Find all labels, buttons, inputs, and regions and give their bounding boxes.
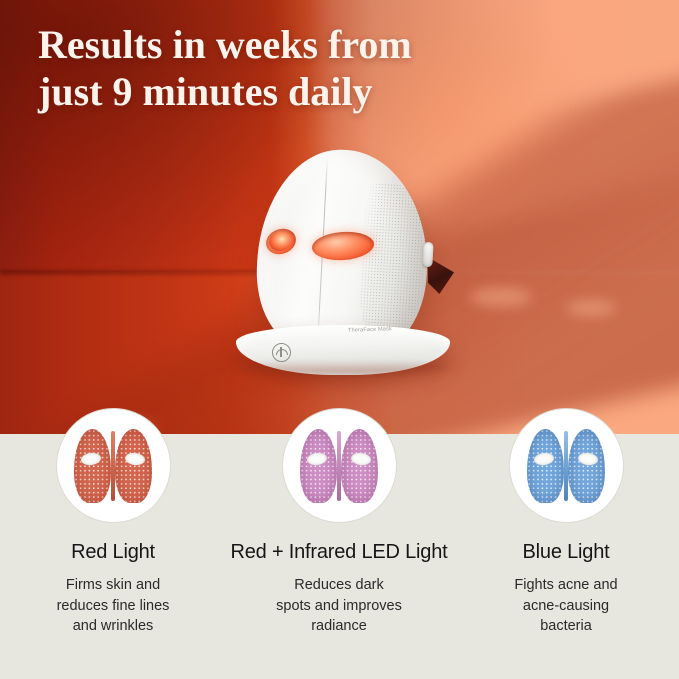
feature-description: Reduces dark spots and improves radiance xyxy=(226,575,452,637)
mask-blue-glow-icon xyxy=(527,429,605,503)
mask-half-left xyxy=(74,429,111,503)
mask-half-right xyxy=(115,429,152,503)
mask-half-left xyxy=(300,429,337,503)
feature-blue-light: Blue Light Fights acne and acne-causing … xyxy=(453,408,679,637)
hero-photo: TheraFace Mask Results in weeks from jus… xyxy=(0,0,679,435)
floor-highlight-dot xyxy=(566,300,616,316)
mask-spine xyxy=(564,431,568,501)
product-theraface-mask: TheraFace Mask xyxy=(236,150,456,375)
feature-title: Red Light xyxy=(0,541,226,564)
mask-spine xyxy=(337,431,341,501)
mask-red-glow-icon xyxy=(74,429,152,503)
stand-lip xyxy=(240,360,446,374)
feature-description: Firms skin and reduces fine lines and wr… xyxy=(0,575,226,637)
floor-highlight-dot xyxy=(470,287,532,307)
mask-half-right xyxy=(568,429,605,503)
feature-icon-circle xyxy=(509,408,624,523)
mask-half-left xyxy=(527,429,564,503)
mask-half-right xyxy=(341,429,378,503)
therabody-logo-icon xyxy=(272,343,291,362)
feature-red-infrared-led-light: Red + Infrared LED Light Reduces dark sp… xyxy=(226,408,452,637)
feature-title: Red + Infrared LED Light xyxy=(226,541,452,564)
feature-title: Blue Light xyxy=(453,541,679,564)
mask-side-button xyxy=(422,242,433,267)
mask-pink-glow-icon xyxy=(300,429,378,503)
promo-image: TheraFace Mask Results in weeks from jus… xyxy=(0,0,679,679)
feature-description: Fights acne and acne-causing bacteria xyxy=(453,575,679,637)
page-title: Results in weeks from just 9 minutes dai… xyxy=(38,22,598,116)
feature-icon-circle xyxy=(56,408,171,523)
feature-icon-circle xyxy=(282,408,397,523)
feature-red-light: Red Light Firms skin and reduces fine li… xyxy=(0,408,226,637)
mask-spine xyxy=(111,431,115,501)
